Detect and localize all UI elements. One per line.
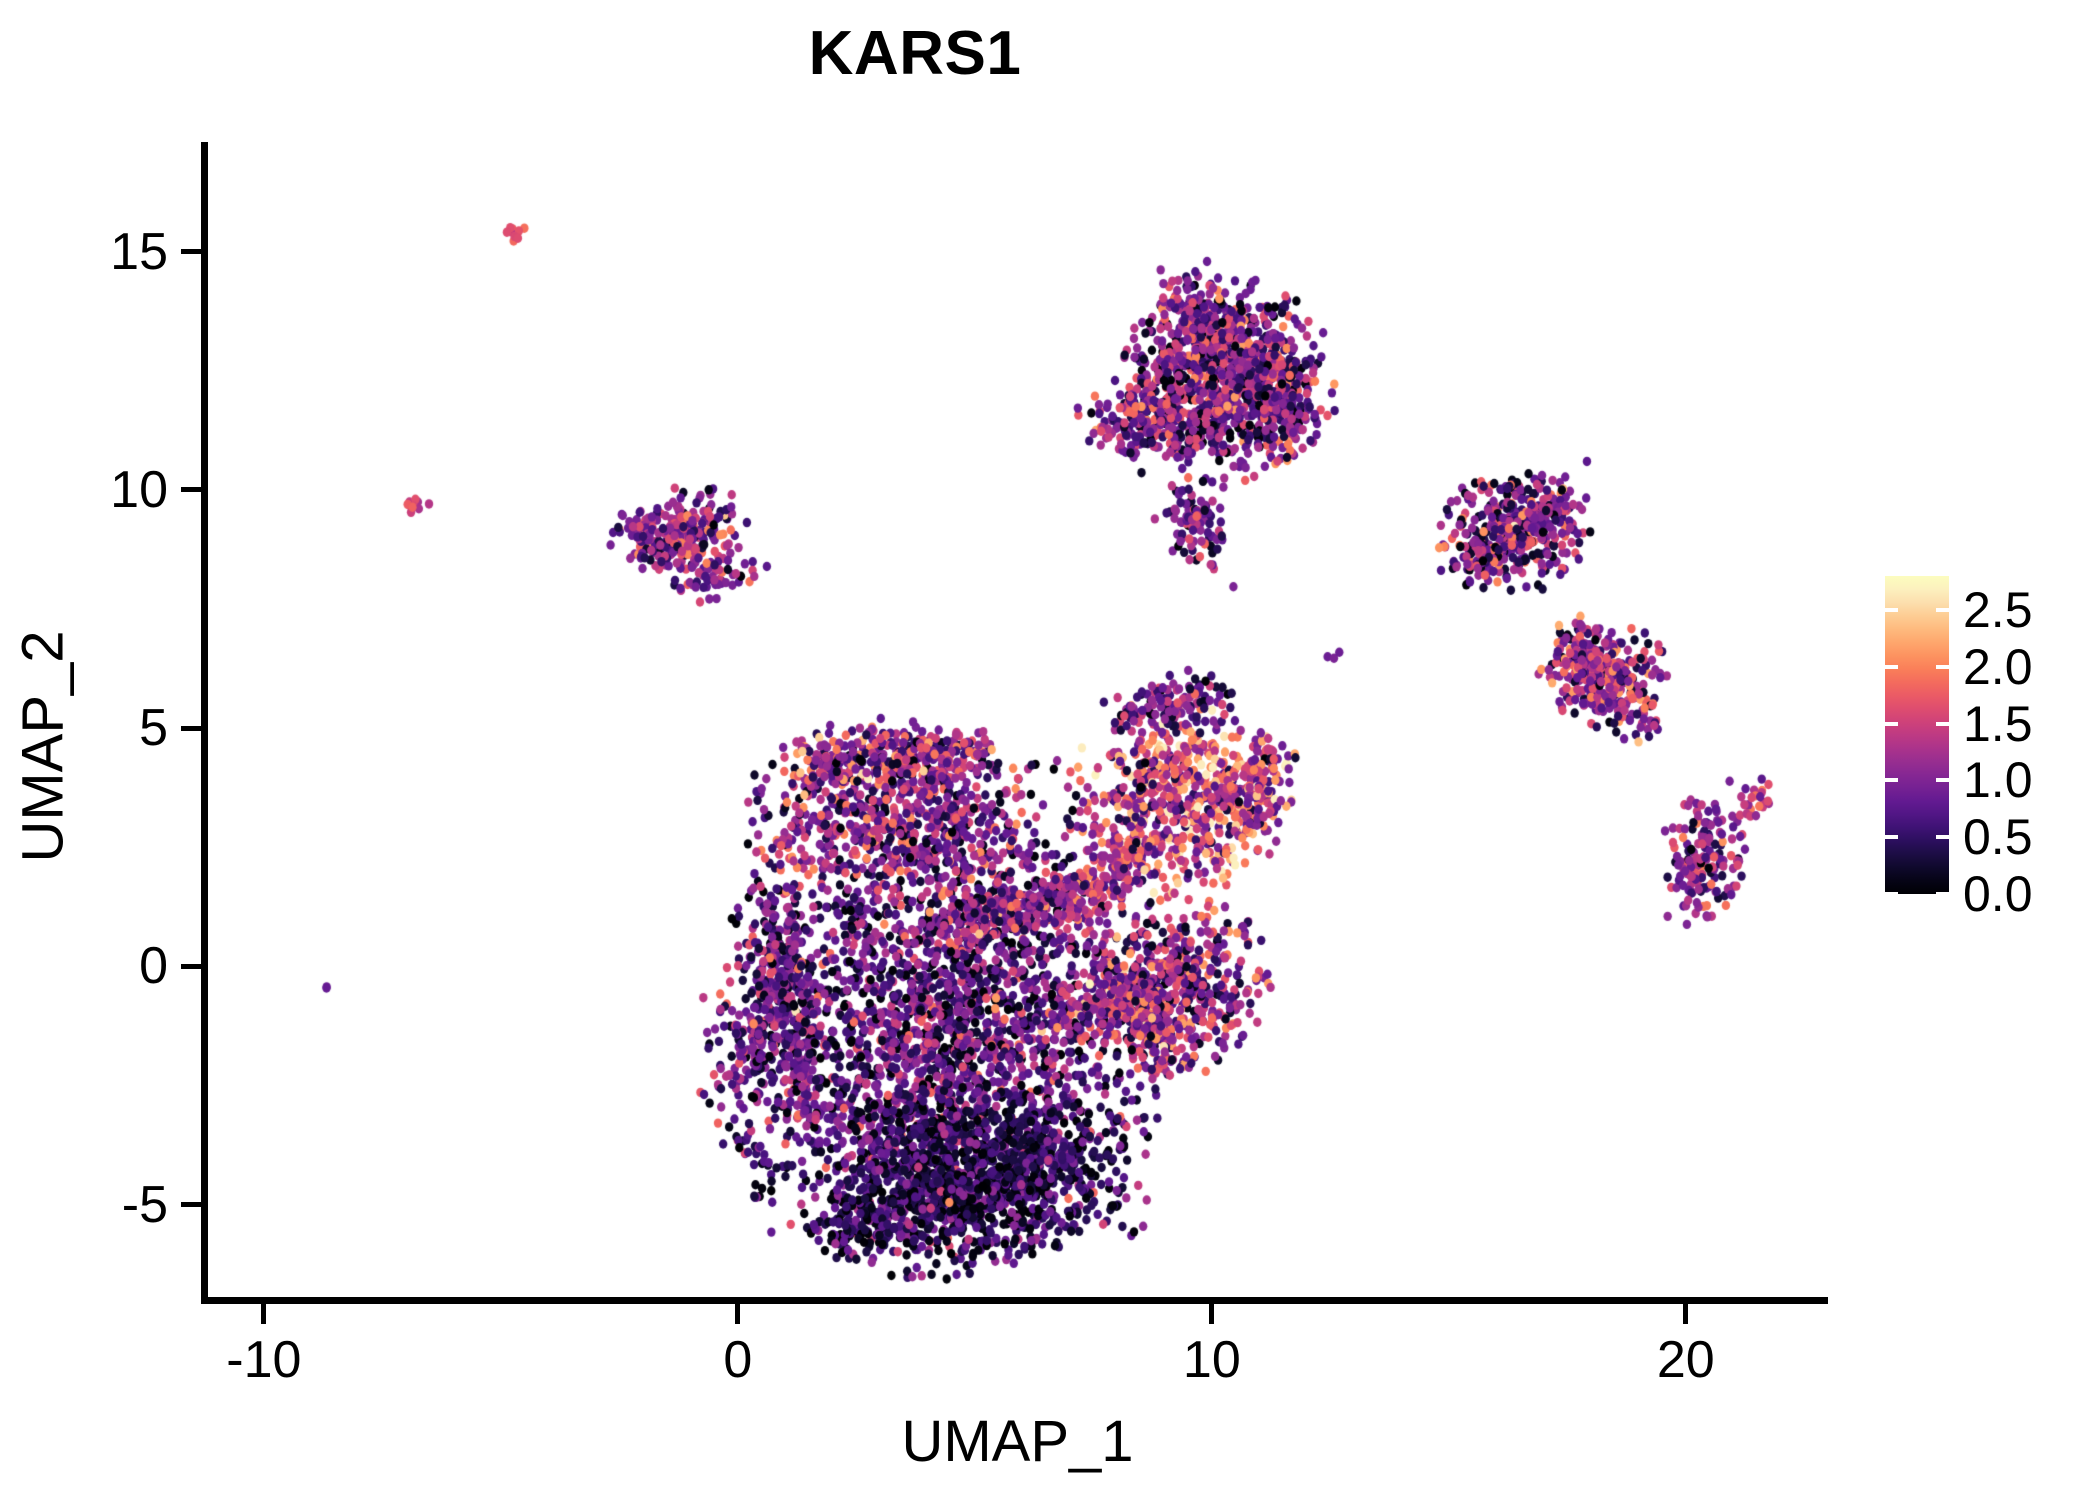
legend-tick-mark	[1885, 608, 1898, 612]
legend-tick-mark	[1885, 722, 1898, 726]
legend-tick-mark	[1885, 835, 1898, 839]
x-tick-label: 0	[723, 1330, 752, 1390]
legend-tick-label: 0.0	[1963, 865, 2033, 923]
legend-colorbar[interactable]	[1885, 576, 1949, 894]
y-tick-label: 0	[139, 936, 168, 996]
legend-tick-label: 2.5	[1963, 581, 2033, 639]
x-tick-label: -10	[226, 1330, 301, 1390]
page-title: KARS1	[0, 18, 1830, 89]
plot-panel	[207, 142, 1828, 1300]
legend-tick-mark	[1936, 722, 1949, 726]
legend-tick-label: 0.5	[1963, 808, 2033, 866]
legend-tick-label: 1.5	[1963, 695, 2033, 753]
y-tick-mark	[181, 249, 201, 254]
legend-tick-mark	[1936, 778, 1949, 782]
legend-tick-mark	[1936, 835, 1949, 839]
legend-tick-label: 1.0	[1963, 751, 2033, 809]
y-tick-mark	[181, 487, 201, 492]
y-axis-title: UMAP_2	[10, 168, 77, 1326]
y-tick-mark	[181, 1202, 201, 1207]
x-tick-label: 20	[1657, 1330, 1715, 1390]
color-legend: 2.52.01.51.00.50.0	[1885, 576, 2085, 906]
y-tick-label: -5	[122, 1175, 168, 1235]
legend-tick-label: 2.0	[1963, 638, 2033, 696]
legend-tick-mark	[1936, 892, 1949, 896]
umap-feature-plot: KARS1 151050-5 -1001020 UMAP_1 UMAP_2 2.…	[0, 0, 2100, 1500]
legend-tick-mark	[1885, 892, 1898, 896]
x-tick-label: 10	[1183, 1330, 1241, 1390]
y-tick-label: 10	[110, 460, 168, 520]
x-tick-mark	[735, 1304, 740, 1324]
x-tick-mark	[1683, 1304, 1688, 1324]
y-tick-label: 5	[139, 698, 168, 758]
legend-tick-mark	[1936, 665, 1949, 669]
legend-tick-mark	[1885, 665, 1898, 669]
legend-tick-mark	[1936, 608, 1949, 612]
y-tick-label: 15	[110, 222, 168, 282]
x-tick-mark	[261, 1304, 266, 1324]
y-tick-mark	[181, 726, 201, 731]
x-axis-title: UMAP_1	[207, 1408, 1828, 1475]
y-axis-line	[201, 142, 208, 1304]
scatter-points-layer	[207, 142, 1828, 1300]
x-tick-mark	[1209, 1304, 1214, 1324]
y-tick-mark	[181, 964, 201, 969]
x-axis-line	[201, 1297, 1828, 1304]
legend-tick-mark	[1885, 778, 1898, 782]
